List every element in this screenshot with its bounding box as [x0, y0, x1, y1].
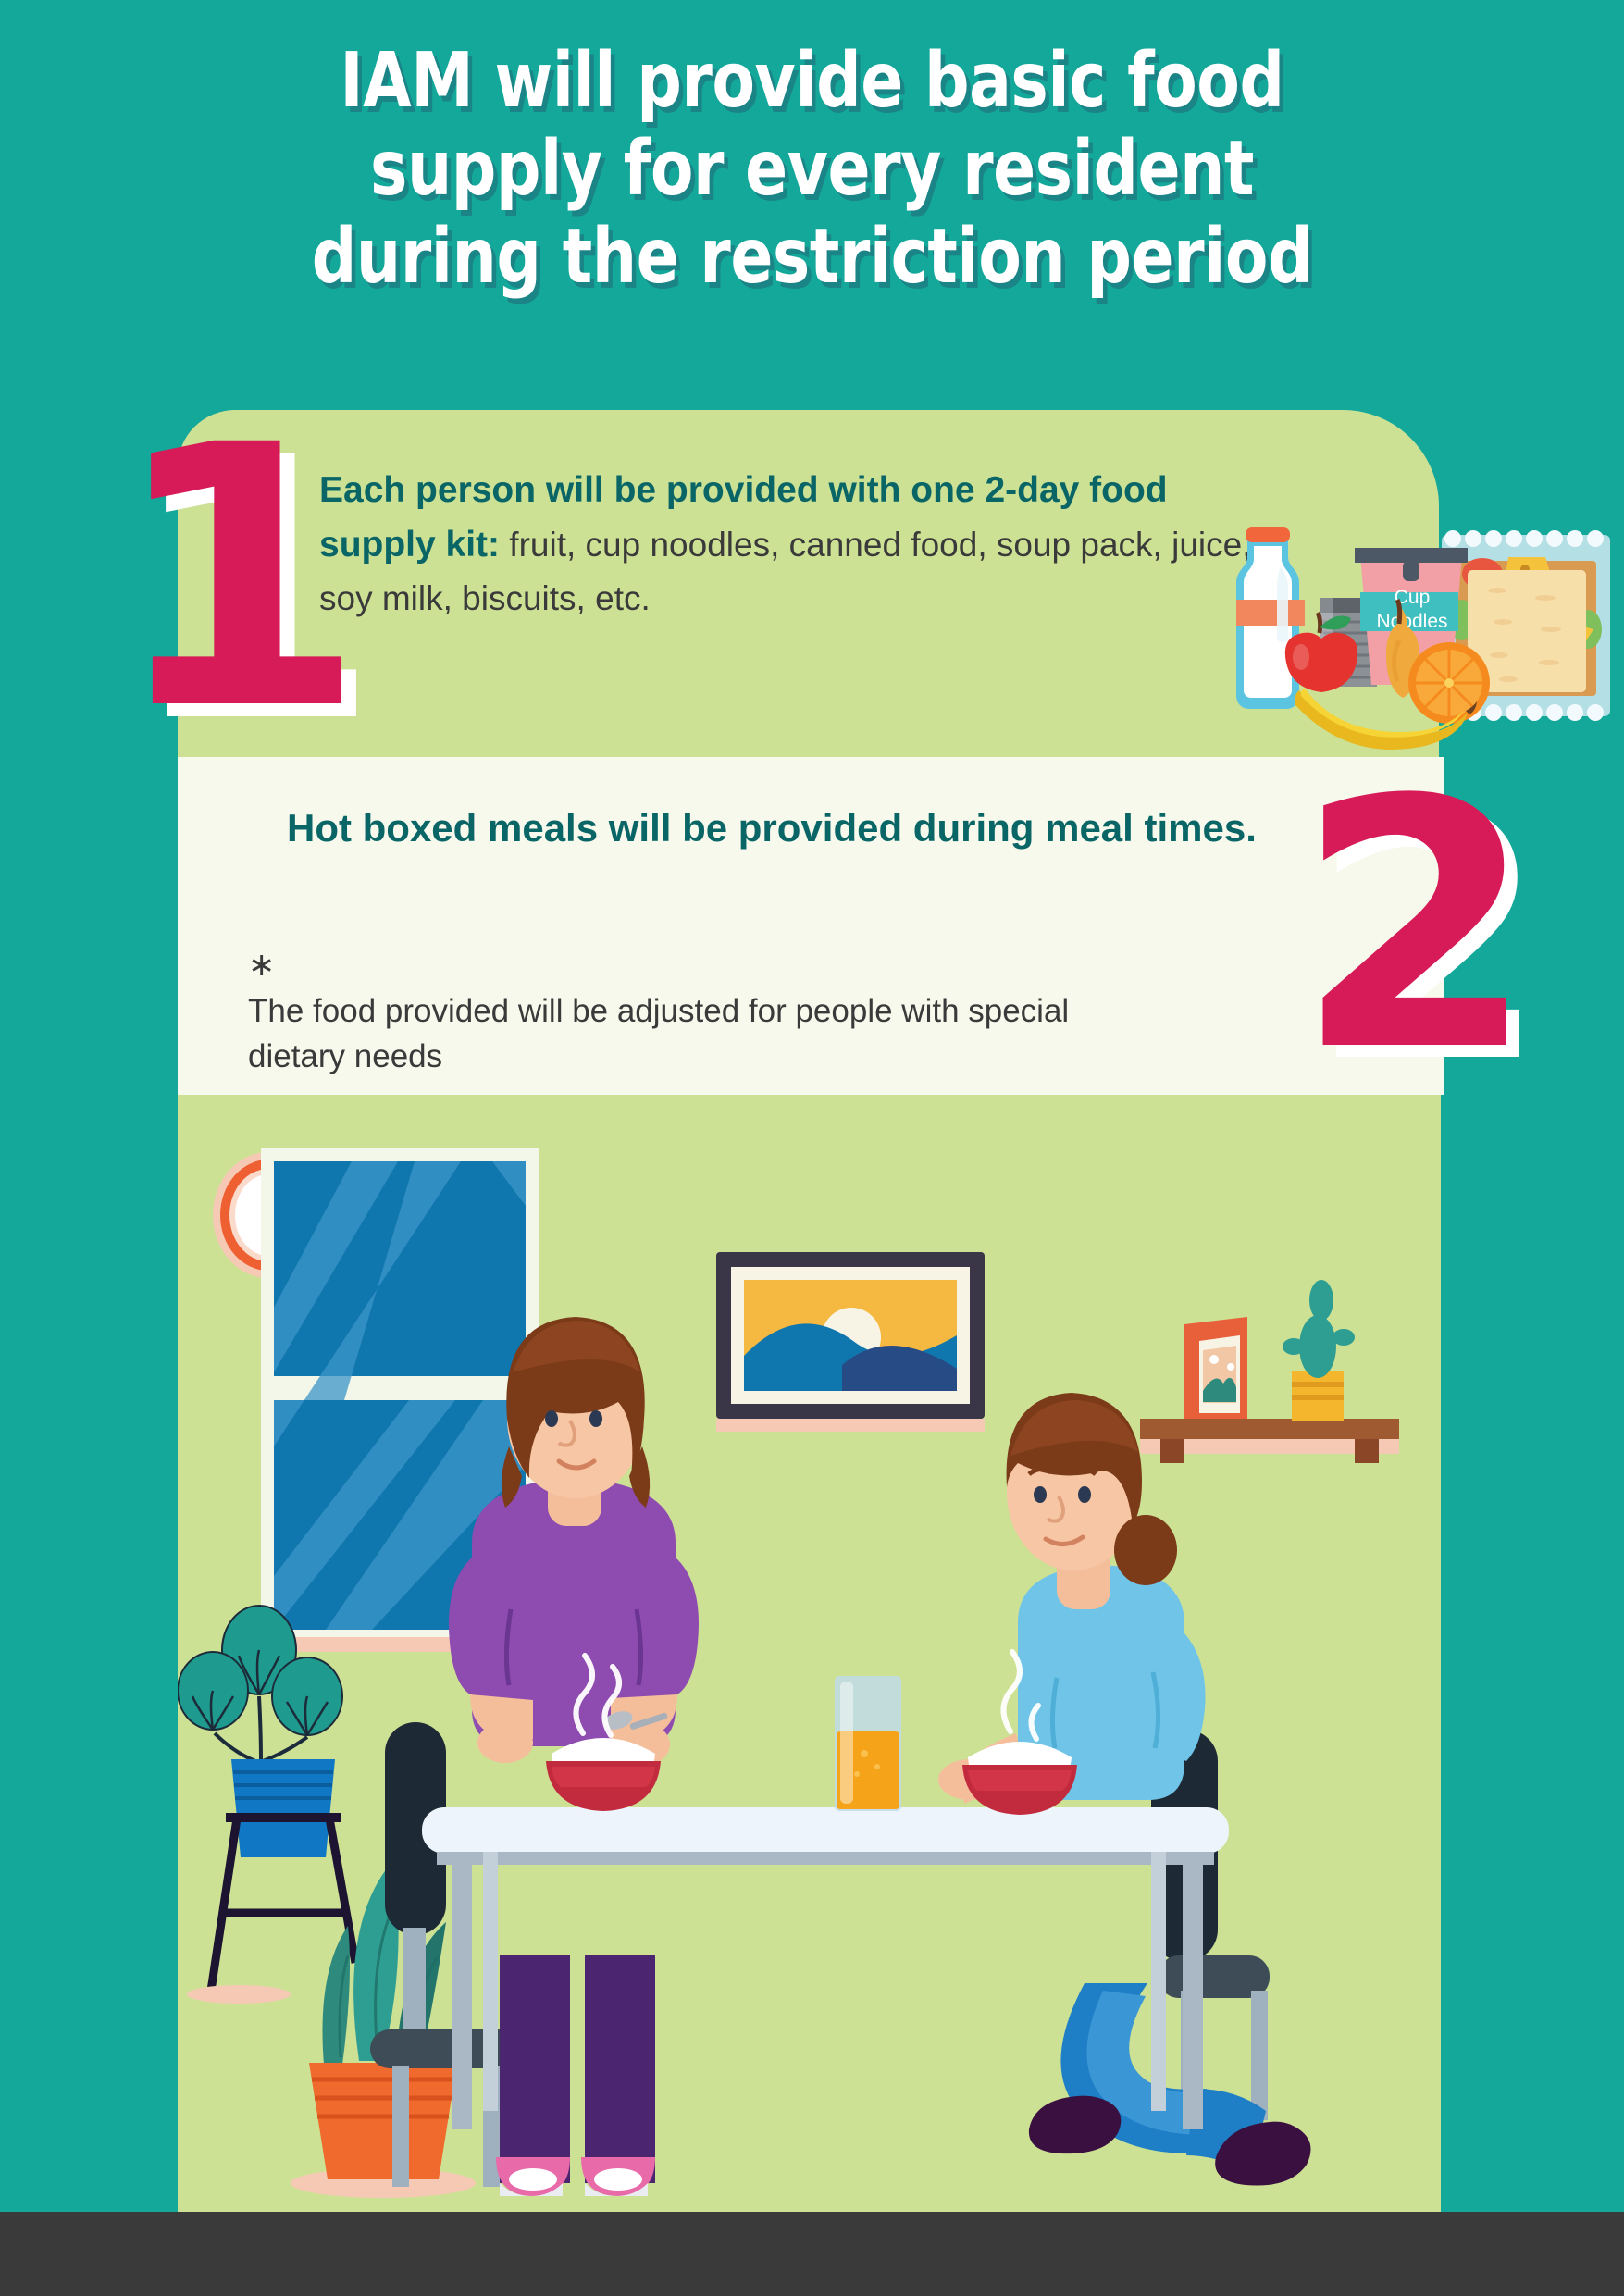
rice-bowl-left-icon	[546, 1738, 661, 1811]
poster-root: IAM will provide basic food supply for e…	[0, 0, 1624, 2296]
dining-scene	[178, 1095, 1441, 2212]
cup-noodles-label-line2: Noodles	[1376, 611, 1447, 632]
rice-bowl-right-icon	[962, 1742, 1077, 1815]
title-line-3: during the restriction period	[65, 213, 1559, 301]
section-2-note: ∗The food provided will be adjusted for …	[248, 942, 1173, 1080]
orange-slice-icon	[1408, 642, 1490, 724]
section-2-heading: Hot boxed meals will be provided during …	[287, 800, 1295, 856]
juice-glass-icon	[835, 1676, 901, 1811]
title-line-1: IAM will provide basic food	[65, 37, 1559, 125]
pink-sneakers-icon	[496, 2157, 655, 2196]
section-2-note-text: The food provided will be adjusted for p…	[248, 988, 1173, 1080]
photo-frame-icon	[1184, 1317, 1247, 1419]
title-line-2: supply for every resident	[65, 125, 1559, 213]
section-1-text: Each person will be provided with one 2-…	[319, 463, 1254, 625]
framed-landscape-painting-icon	[716, 1252, 985, 1432]
footer-bar	[0, 2212, 1624, 2296]
wall-shelf-icon	[1140, 1280, 1399, 1463]
cactus-plant-icon	[1283, 1280, 1355, 1421]
food-supply-kit-illustration: Cup Noodles	[1231, 481, 1619, 759]
milk-bottle-icon	[1236, 527, 1305, 709]
section-2-number: 2	[1295, 782, 1555, 1087]
asterisk-icon: ∗	[248, 947, 275, 983]
section-1-number: 1	[109, 426, 352, 740]
scene-illustration	[178, 1095, 1441, 2212]
fan-leaf-plant-icon	[178, 1606, 355, 2004]
page-title: IAM will provide basic food supply for e…	[65, 37, 1559, 301]
